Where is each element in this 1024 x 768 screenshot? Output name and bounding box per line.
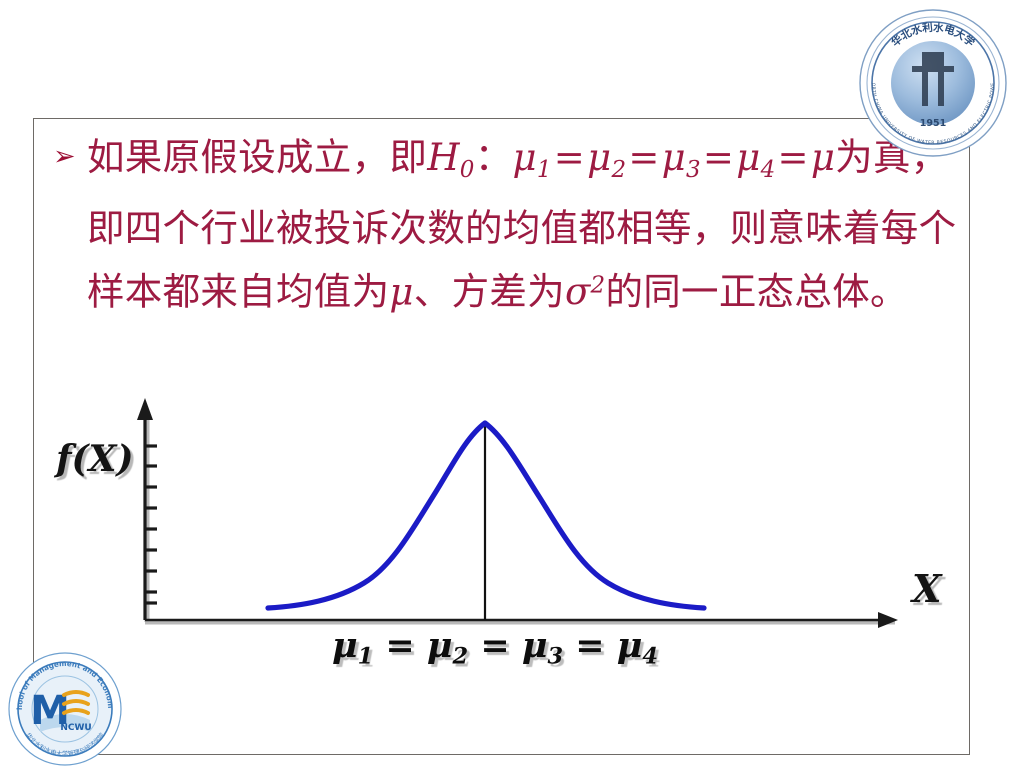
math-mu1: μ1 [513, 136, 552, 179]
bullet-text: 如果原假设成立，即H0：μ1=μ2=μ3=μ4=μ为真，即四个行业被投诉次数的均… [87, 128, 975, 321]
school-seal-svg: M NCWU School of Management and Economic… [6, 650, 124, 768]
math-mu3: μ3 [662, 136, 701, 179]
text-run-4: 的同一正态总体。 [605, 269, 907, 313]
math-mu: μ [811, 136, 835, 179]
math-sigma-squared: σ2 [565, 270, 605, 313]
text-run-1: 如果原假设成立，即 [87, 135, 427, 179]
math-h0: H0 [427, 136, 474, 179]
school-of-management-seal-logo: M NCWU School of Management and Economic… [6, 650, 124, 768]
bullet-paragraph: ➢ 如果原假设成立，即H0：μ1=μ2=μ3=μ4=μ为真，即四个行业被投诉次数… [45, 128, 975, 321]
university-seal-svg: 1951 华北水利水电大学 NORTH CHINA UNIVERSITY OF … [858, 8, 1008, 158]
math-mu-mean: μ [389, 270, 413, 313]
y-axis-label: f(X) [56, 438, 133, 480]
math-equals-4: = [776, 136, 811, 179]
math-mu2: μ2 [587, 136, 626, 179]
bullet-arrow-icon: ➢ [45, 128, 87, 186]
math-mu4: μ4 [736, 136, 775, 179]
math-equals-3: = [701, 136, 736, 179]
text-run-3: 、方差为 [414, 269, 565, 313]
seal-year: 1951 [920, 118, 946, 129]
ncwu-university-seal-logo: 1951 华北水利水电大学 NORTH CHINA UNIVERSITY OF … [858, 8, 1008, 158]
math-equals-1: = [552, 136, 587, 179]
school-abbreviation: NCWU [60, 723, 91, 733]
x-axis-arrowhead [878, 612, 898, 628]
y-axis-arrowhead [137, 398, 153, 420]
math-equals-2: = [626, 136, 661, 179]
text-colon: ： [475, 135, 513, 179]
slide-canvas: ➢ 如果原假设成立，即H0：μ1=μ2=μ3=μ4=μ为真，即四个行业被投诉次数… [0, 0, 1024, 768]
mean-equality-label: μ1 = μ2 = μ3 = μ4 [332, 625, 658, 670]
x-axis-label: X [912, 566, 941, 611]
